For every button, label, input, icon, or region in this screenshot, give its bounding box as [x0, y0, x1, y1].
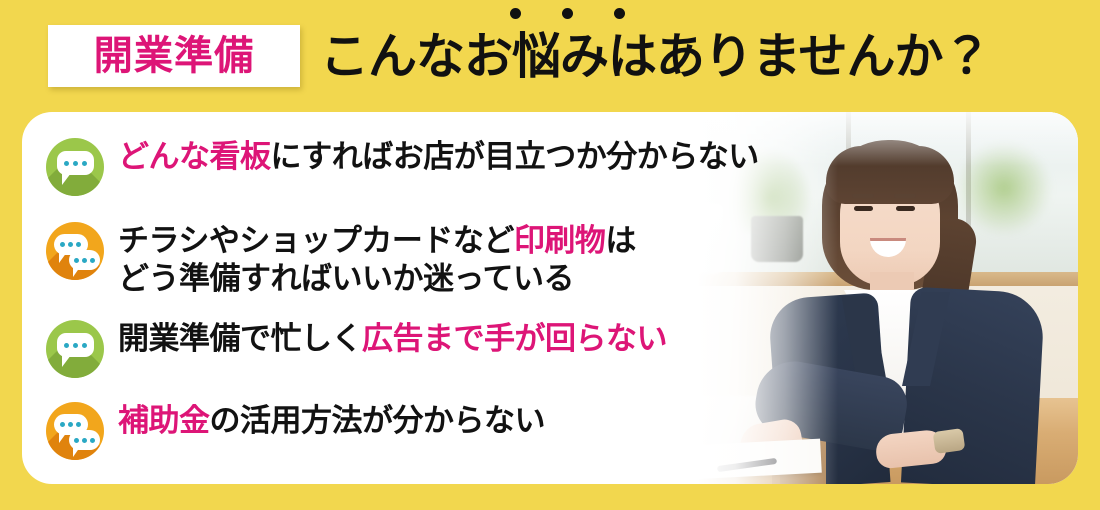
list-item-text: チラシやショップカードなど印刷物は どう準備すればいいか迷っている — [118, 220, 636, 298]
bubble-dot — [74, 438, 79, 443]
list-item-text: 開業準備で忙しく広告まで手が回らない — [118, 318, 667, 358]
bubble-dot — [76, 422, 81, 427]
bubble-dot — [64, 343, 69, 348]
bubble-tail — [59, 432, 67, 443]
bubble-dot — [68, 422, 73, 427]
plain-text: は — [605, 223, 636, 258]
bubble-dot — [82, 438, 87, 443]
bubble-dot — [82, 343, 87, 348]
list-item-text: どんな看板にすればお店が目立つか分からない — [118, 136, 759, 176]
bubble-dot — [90, 438, 95, 443]
list-item: 開業準備で忙しく広告まで手が回らない — [46, 318, 667, 378]
plain-text: どう準備すればいいか迷っている — [118, 261, 574, 296]
list-item: どんな看板にすればお店が目立つか分からない — [46, 136, 759, 196]
content-card: どんな看板にすればお店が目立つか分からない — [22, 112, 1078, 484]
bubble-dot — [74, 258, 79, 263]
double-speech-bubble-icon — [46, 402, 104, 460]
emphasis-dot — [614, 8, 625, 19]
highlight-text: どんな看板 — [118, 139, 271, 174]
bubble — [69, 430, 100, 450]
banner-root: 開業準備 こんなお悩みはありませんか？ — [0, 0, 1100, 510]
bubble-dot — [68, 242, 73, 247]
highlight-text: 広告まで手が回らない — [362, 321, 667, 356]
plain-text: チラシやショップカードなど — [118, 223, 514, 258]
bubble-dot — [76, 242, 81, 247]
list-item-text: 補助金の活用方法が分からない — [118, 400, 545, 440]
bubble-tail — [59, 252, 67, 263]
text-line: 補助金の活用方法が分からない — [118, 402, 545, 440]
bubble-dot — [73, 343, 78, 348]
list-item: 補助金の活用方法が分からない — [46, 400, 545, 460]
pain-point-list: どんな看板にすればお店が目立つか分からない — [22, 112, 1078, 484]
headline-container: こんなお悩みはありませんか？ — [320, 22, 991, 92]
text-line: どんな看板にすればお店が目立つか分からない — [118, 138, 759, 176]
bubble-dot — [82, 161, 87, 166]
category-badge-label: 開業準備 — [94, 36, 255, 76]
text-line: チラシやショップカードなど印刷物は — [118, 222, 636, 260]
highlight-text: 印刷物 — [514, 223, 606, 258]
plain-text: の活用方法が分からない — [210, 403, 546, 438]
banner-header: 開業準備 こんなお悩みはありませんか？ — [0, 0, 1100, 112]
highlight-text: 補助金 — [118, 403, 210, 438]
bubble — [57, 333, 94, 357]
list-item: チラシやショップカードなど印刷物は どう準備すればいいか迷っている — [46, 220, 636, 298]
plain-text: 開業準備で忙しく — [118, 321, 362, 356]
text-line: 開業準備で忙しく広告まで手が回らない — [118, 320, 667, 358]
double-speech-bubble-icon — [46, 222, 104, 280]
bubble-tail — [62, 173, 71, 185]
emphasis-dot — [510, 8, 521, 19]
plain-text: にすればお店が目立つか分からない — [271, 139, 759, 174]
bubble-tail — [73, 267, 80, 277]
speech-bubble-icon — [46, 138, 104, 196]
bubble-dot — [82, 258, 87, 263]
bubble-dot — [60, 242, 65, 247]
bubble — [57, 151, 94, 175]
bubble-dot — [64, 161, 69, 166]
bubble-dot — [90, 258, 95, 263]
category-badge: 開業準備 — [48, 25, 300, 87]
bubble — [69, 250, 100, 270]
speech-bubble-icon — [46, 320, 104, 378]
bubble-dot — [60, 422, 65, 427]
bubble-tail — [62, 355, 71, 367]
text-line: どう準備すればいいか迷っている — [118, 260, 636, 298]
emphasis-dot — [562, 8, 573, 19]
bubble-tail — [73, 447, 80, 457]
page-title: こんなお悩みはありませんか？ — [320, 33, 991, 82]
bubble-dot — [73, 161, 78, 166]
